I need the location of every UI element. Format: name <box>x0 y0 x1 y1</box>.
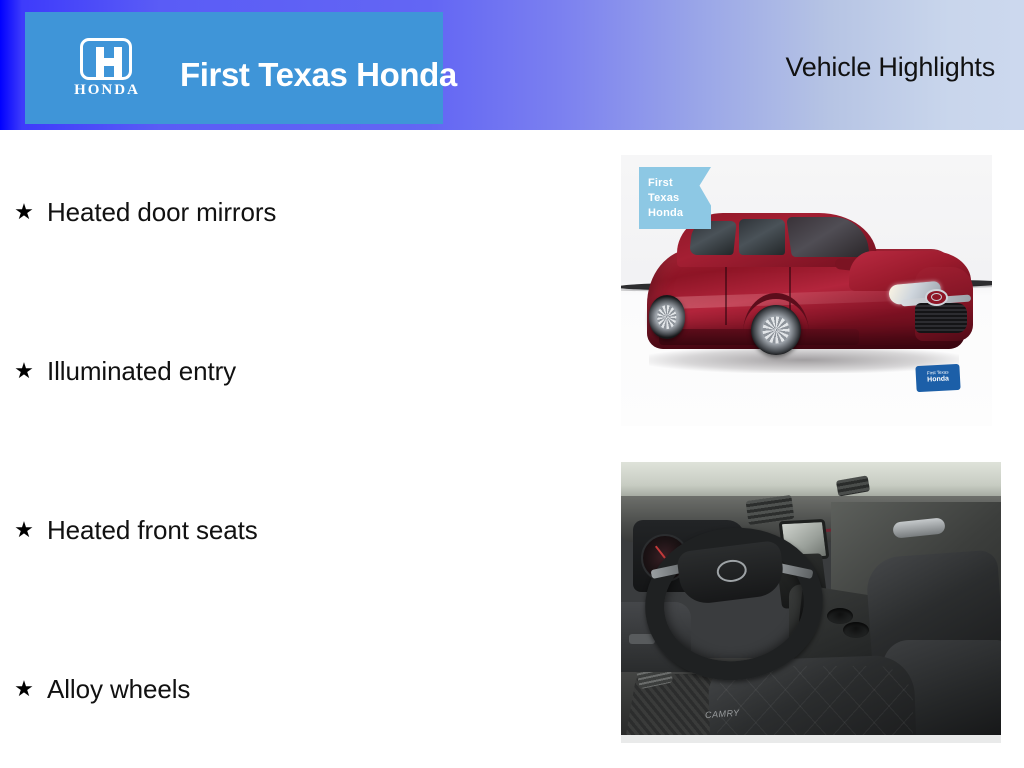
photo-bottom-edge <box>621 735 1001 743</box>
dealer-plate-line2: Honda <box>916 375 960 384</box>
star-bullet-icon: ★ <box>14 515 34 545</box>
rear-alloy-wheel <box>649 295 685 339</box>
dealer-name-text: First Texas Honda <box>180 56 457 94</box>
feature-label: Illuminated entry <box>47 356 236 387</box>
lower-grille <box>915 303 967 333</box>
vehicle-feature-list: ★ Heated door mirrors ★ Illuminated entr… <box>0 130 600 768</box>
cup-holder <box>843 622 869 638</box>
dealer-license-plate: First Texas Honda <box>915 364 960 392</box>
toyota-badge-icon <box>925 289 948 306</box>
list-item: ★ Alloy wheels <box>14 672 190 706</box>
page-title: Vehicle Highlights <box>785 52 995 83</box>
car-shadow <box>649 347 959 373</box>
honda-emblem-outline <box>80 38 132 80</box>
feature-label: Heated front seats <box>47 515 258 546</box>
feature-label: Alloy wheels <box>47 674 190 705</box>
list-item: ★ Heated front seats <box>14 513 258 547</box>
star-bullet-icon: ★ <box>14 197 34 227</box>
vehicle-interior-photo[interactable]: CAMRY <box>621 462 1001 743</box>
front-side-window <box>739 219 785 255</box>
watermark-line-2: Texas <box>648 191 711 206</box>
star-bullet-icon: ★ <box>14 356 34 386</box>
feature-label: Heated door mirrors <box>47 197 276 228</box>
dealer-watermark-banner: First Texas Honda <box>639 167 711 229</box>
front-alloy-wheel <box>751 305 801 355</box>
vehicle-exterior-photo[interactable]: First Texas Honda First Texas Honda <box>621 155 992 426</box>
slide-header: HONDA First Texas Honda Vehicle Highligh… <box>0 0 1024 130</box>
cup-holder <box>827 608 853 624</box>
rear-door-seam <box>725 267 727 325</box>
list-item: ★ Illuminated entry <box>14 354 236 388</box>
star-bullet-icon: ★ <box>14 674 34 704</box>
watermark-line-3: Honda <box>648 206 711 221</box>
list-item: ★ Heated door mirrors <box>14 195 276 229</box>
honda-emblem-icon: HONDA <box>61 38 153 100</box>
dealer-logo-block[interactable]: HONDA First Texas Honda <box>25 12 443 124</box>
car-illustration: First Texas Honda <box>639 207 979 382</box>
honda-h-crossbar <box>96 58 122 66</box>
honda-wordmark: HONDA <box>61 82 153 99</box>
